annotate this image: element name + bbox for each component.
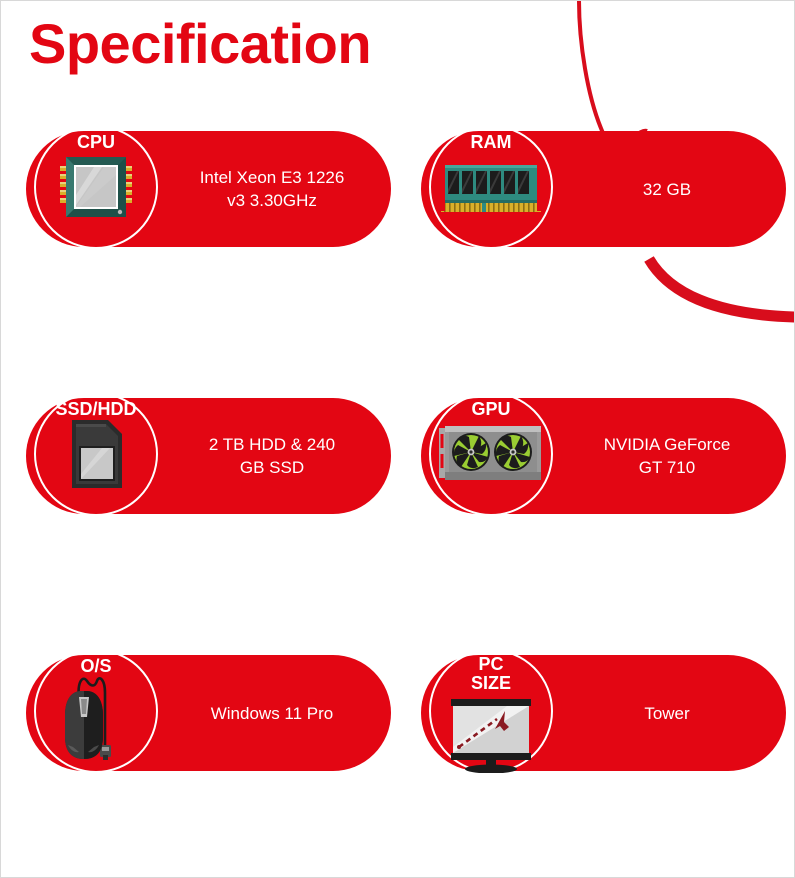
ram-module-icon bbox=[429, 125, 553, 249]
spec-value: NVIDIA GeForce GT 710 bbox=[556, 398, 778, 514]
spec-value: Windows 11 Pro bbox=[161, 655, 383, 771]
spec-value-line2: v3 3.30GHz bbox=[227, 191, 317, 210]
spec-value: Tower bbox=[556, 655, 778, 771]
spec-card-os[interactable]: O/S Windows 11 Pro bbox=[26, 655, 391, 771]
spec-value-line2: GB SSD bbox=[240, 458, 304, 477]
specification-sheet: Specification bbox=[0, 0, 795, 878]
spec-value-line1: 2 TB HDD & 240 bbox=[209, 435, 335, 454]
monitor-screen-size-icon bbox=[429, 649, 553, 779]
spec-card-ram[interactable]: RAM 32 GB bbox=[421, 131, 786, 247]
spec-card-gpu[interactable]: GPU NVIDIA GeForce GT 710 bbox=[421, 398, 786, 514]
page-title: Specification bbox=[29, 15, 371, 74]
spec-value-line1: NVIDIA GeForce bbox=[604, 435, 731, 454]
spec-card-grid: CPU Intel Xeon E3 1226 v3 3.30GHz bbox=[1, 1, 795, 878]
spec-card-cpu[interactable]: CPU Intel Xeon E3 1226 v3 3.30GHz bbox=[26, 131, 391, 247]
spec-value: 2 TB HDD & 240 GB SSD bbox=[161, 398, 383, 514]
cpu-chip-icon bbox=[34, 125, 158, 249]
spec-value: Intel Xeon E3 1226 v3 3.30GHz bbox=[161, 131, 383, 247]
spec-value-line2: GT 710 bbox=[639, 458, 695, 477]
spec-card-storage[interactable]: SSD/HDD 2 TB HDD & 240 GB SSD bbox=[26, 398, 391, 514]
memory-card-icon bbox=[34, 392, 158, 516]
graphics-card-icon bbox=[429, 392, 553, 516]
computer-mouse-icon bbox=[34, 649, 158, 773]
spec-value: 32 GB bbox=[556, 131, 778, 247]
spec-card-pc-size[interactable]: PC SIZE Tower bbox=[421, 655, 786, 771]
spec-value-line1: Intel Xeon E3 1226 bbox=[200, 168, 345, 187]
